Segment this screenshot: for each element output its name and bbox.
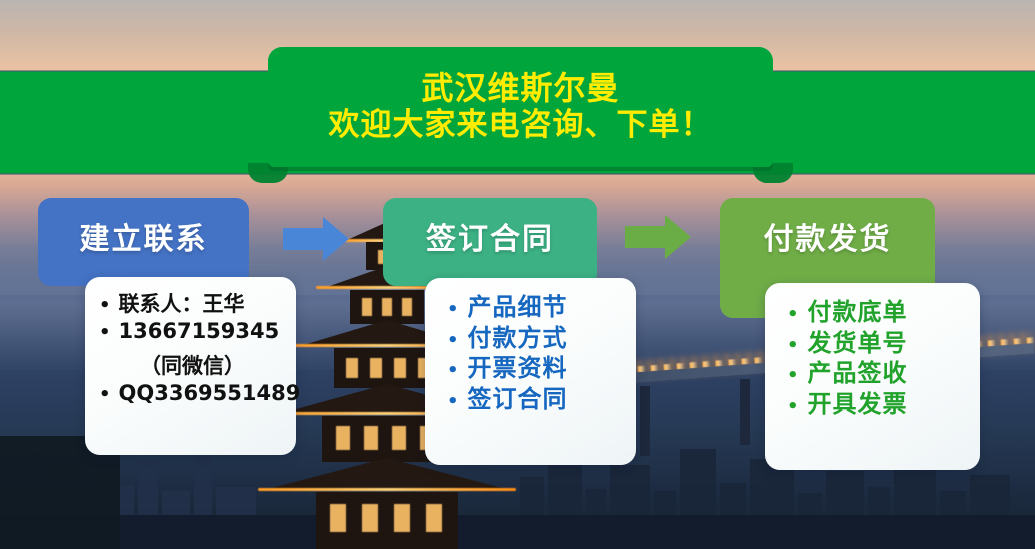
arrow-step1-to-step2 [283,217,349,261]
item-invoice-info: 开票资料 [468,353,568,384]
ribbon-bottom-edge [0,173,1035,175]
banner-plaque: 武汉维斯尔曼 欢迎大家来电咨询、下单！ [268,47,773,167]
list-item: • 付款底单 [787,297,970,328]
step-title-1: 建立联系 [80,214,208,258]
step-title-2: 签订合同 [426,214,554,258]
bullet-icon: • [787,398,800,416]
step-card-header-1[interactable]: 建立联系 [38,198,249,286]
contact-person: 联系人：王华 [119,291,245,318]
bullet-icon: • [447,301,460,319]
step-title-3: 付款发货 [764,214,892,258]
step-card-body-3: • 付款底单 • 发货单号 • 产品签收 • 开具发票 [765,283,980,470]
list-item: • 13667159345 （同微信） [99,318,286,380]
item-product-receipt: 产品签收 [808,358,908,389]
item-shipping-number: 发货单号 [808,328,908,359]
step-items-1: • 联系人：王华 • 13667159345 （同微信） • QQ3369551… [99,291,286,407]
item-product-details: 产品细节 [468,292,568,323]
item-payment-method: 付款方式 [468,323,568,354]
bullet-icon: • [99,324,111,342]
banner-company-name: 武汉维斯尔曼 [421,70,619,107]
qq-number: QQ3369551489 [119,380,301,407]
list-item: • 联系人：王华 [99,291,286,318]
list-item: • 付款方式 [447,323,626,354]
step-items-3: • 付款底单 • 发货单号 • 产品签收 • 开具发票 [787,297,970,420]
item-payment-receipt: 付款底单 [808,297,908,328]
bullet-icon: • [447,362,460,380]
list-item: • 产品细节 [447,292,626,323]
bullet-icon: • [787,337,800,355]
bullet-icon: • [787,306,800,324]
step-card-body-1: • 联系人：王华 • 13667159345 （同微信） • QQ3369551… [85,277,296,455]
list-item: • 产品签收 [787,358,970,389]
bullet-icon: • [447,393,460,411]
list-item: • QQ3369551489 [99,380,286,407]
list-item: • 签订合同 [447,384,626,415]
step-card-body-2: • 产品细节 • 付款方式 • 开票资料 • 签订合同 [425,278,636,465]
bullet-icon: • [787,367,800,385]
wechat-note: （同微信） [99,353,286,380]
step-card-header-2[interactable]: 签订合同 [383,198,597,286]
list-item: • 开具发票 [787,389,970,420]
list-item: • 发货单号 [787,328,970,359]
bullet-icon: • [447,332,460,350]
poster-canvas: 武汉维斯尔曼 欢迎大家来电咨询、下单！ 建立联系 • 联系人：王华 • 1366… [0,0,1035,549]
bullet-icon: • [99,386,111,404]
banner-slogan: 欢迎大家来电咨询、下单！ [329,108,713,144]
phone-number: 13667159345 [119,318,280,345]
arrow-step2-to-step3 [625,215,691,259]
bullet-icon: • [99,297,111,315]
list-item: • 开票资料 [447,353,626,384]
item-issue-invoice: 开具发票 [808,389,908,420]
step-items-2: • 产品细节 • 付款方式 • 开票资料 • 签订合同 [447,292,626,415]
item-sign-contract: 签订合同 [468,384,568,415]
